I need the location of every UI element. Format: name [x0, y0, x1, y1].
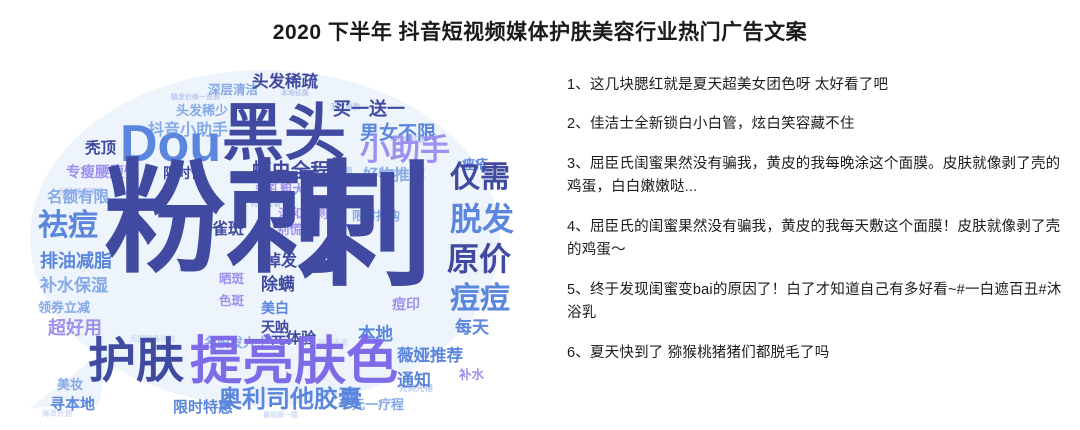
cloud-word: 美白	[261, 301, 289, 315]
list-item: 6、夏天快到了 猕猴桃猪猪们都脱毛了吗	[567, 342, 1067, 365]
list-item: 1、这几块腮红就是夏天超美女团色呀 太好看了吧	[567, 74, 1067, 97]
cloud-word: 领券立减	[38, 301, 90, 314]
cloud-word: 美妆	[57, 378, 83, 391]
cloud-word: 祛痘	[38, 211, 98, 241]
cloud-word: 每天	[455, 319, 489, 336]
cloud-word: 痘痘	[450, 284, 510, 314]
cloud-word: 色斑	[219, 295, 244, 308]
list-item: 5、终于发现闺蜜变bai的原因了！白了才知道自己有多好看~#一白遮百丑#沐浴乳	[567, 279, 1067, 326]
cloud-word: 本地征集	[281, 90, 309, 97]
page-title: 2020 下半年 抖音短视频媒体护肤美容行业热门广告文案	[0, 16, 1080, 46]
cloud-word: 脱发	[450, 203, 514, 235]
cloud-word-primary-2: 刺	[297, 158, 433, 294]
cloud-word: 名额有限	[47, 190, 109, 206]
cloud-word: 仅需	[450, 163, 510, 193]
cloud-word: 补水保湿	[40, 277, 108, 294]
wordcloud-figure: 植发价格一览表 本地征集 无效退款 不花冤枉钱 个名额 分钟祛痘项目 持久留香 …	[0, 58, 540, 430]
ad-copy-list: 1、这几块腮红就是夏天超美女团色呀 太好看了吧 2、佳洁士全新锁白小白管，炫白笑…	[567, 74, 1067, 365]
list-item: 2、佳洁士全新锁白小白管，炫白笑容藏不住	[567, 113, 1067, 136]
cloud-word: 头发稀疏	[252, 74, 318, 91]
cloud-word: 奥利司他胶囊	[218, 388, 362, 412]
list-item: 3、屈臣氏闺蜜果然没有骗我，黄皮的我每晚涂这个面膜。皮肤就像剥了壳的鸡蛋，白白嫩…	[567, 153, 1067, 200]
cloud-word: 提亮肤色	[190, 336, 398, 388]
page-root: 2020 下半年 抖音短视频媒体护肤美容行业热门广告文案 植发价格一览表 本地征…	[0, 0, 1080, 430]
list-item: 4、屈臣氏的闺蜜果然没有骗我，黄皮的我每天敷这个面膜！皮肤就像剥了壳的鸡蛋～	[567, 216, 1067, 263]
cloud-word: 寻本地	[50, 397, 95, 412]
cloud-word: 排油减脂	[40, 252, 112, 270]
cloud-word: 原价	[447, 243, 511, 275]
cloud-word: 薇娅推荐	[397, 348, 463, 365]
cloud-word: 深层清洁	[208, 84, 258, 97]
cloud-word: 护肤	[88, 338, 184, 386]
cloud-word: 最前豚一猿	[263, 412, 298, 419]
cloud-word: 通知	[397, 372, 431, 389]
cloud-word: 补水	[459, 369, 484, 382]
